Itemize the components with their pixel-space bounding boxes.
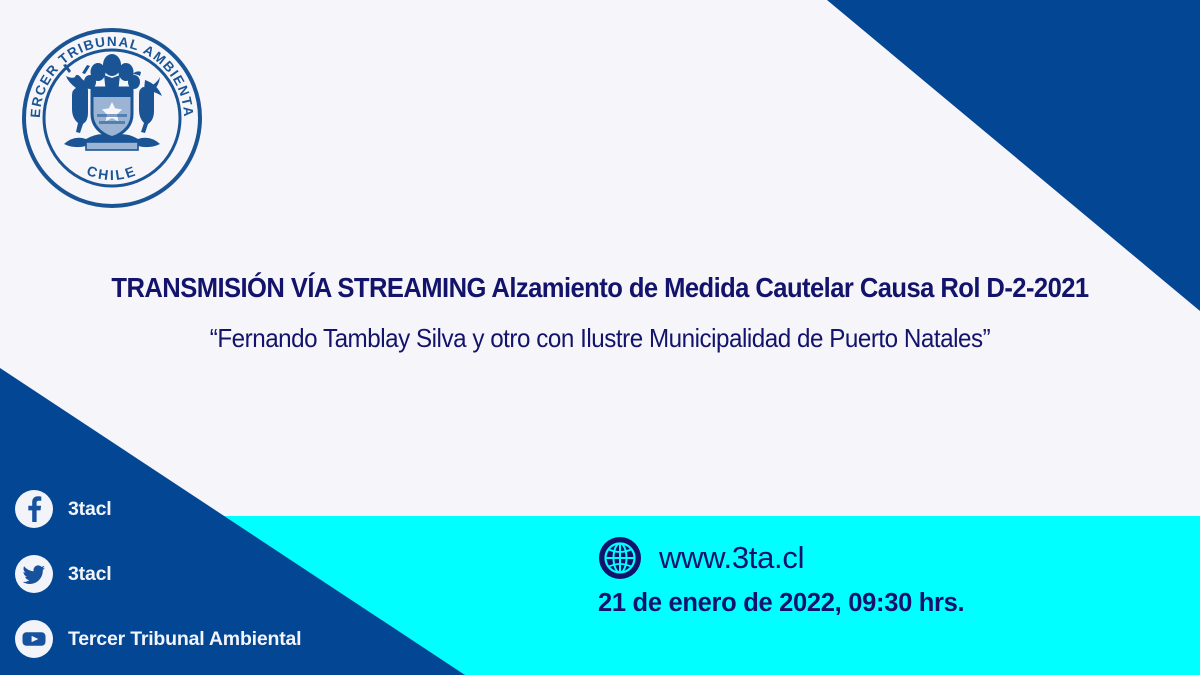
coat-of-arms xyxy=(63,54,162,150)
website-row[interactable]: www.3ta.cl xyxy=(598,536,964,580)
social-label: Tercer Tribunal Ambiental xyxy=(68,628,301,651)
youtube-icon[interactable] xyxy=(14,619,54,659)
seal-graphic: TERCER TRIBUNAL AMBIENTAL CHILE xyxy=(12,18,212,218)
page-subtitle: “Fernando Tamblay Silva y otro con Ilust… xyxy=(42,324,1158,354)
social-media-list: 3tacl 3tacl Tercer Tribunal Ambiental xyxy=(14,487,301,675)
page-title: TRANSMISIÓN VÍA STREAMING Alzamiento de … xyxy=(42,272,1158,304)
list-item[interactable]: Tercer Tribunal Ambiental xyxy=(14,617,301,661)
web-info-block: www.3ta.cl 21 de enero de 2022, 09:30 hr… xyxy=(598,536,964,618)
institution-logo: TERCER TRIBUNAL AMBIENTAL CHILE xyxy=(12,18,212,218)
facebook-icon[interactable] xyxy=(14,489,54,529)
title-block: TRANSMISIÓN VÍA STREAMING Alzamiento de … xyxy=(0,272,1200,354)
social-label: 3tacl xyxy=(68,498,111,521)
twitter-icon[interactable] xyxy=(14,554,54,594)
social-label: 3tacl xyxy=(68,563,111,586)
event-datetime: 21 de enero de 2022, 09:30 hrs. xyxy=(598,589,964,618)
list-item[interactable]: 3tacl xyxy=(14,552,301,596)
seal-ring-text-bottom: CHILE xyxy=(85,162,140,183)
streaming-announcement-slide: TERCER TRIBUNAL AMBIENTAL CHILE xyxy=(0,0,1200,675)
website-url[interactable]: www.3ta.cl xyxy=(659,540,804,576)
list-item[interactable]: 3tacl xyxy=(14,487,301,531)
globe-icon xyxy=(598,536,642,580)
